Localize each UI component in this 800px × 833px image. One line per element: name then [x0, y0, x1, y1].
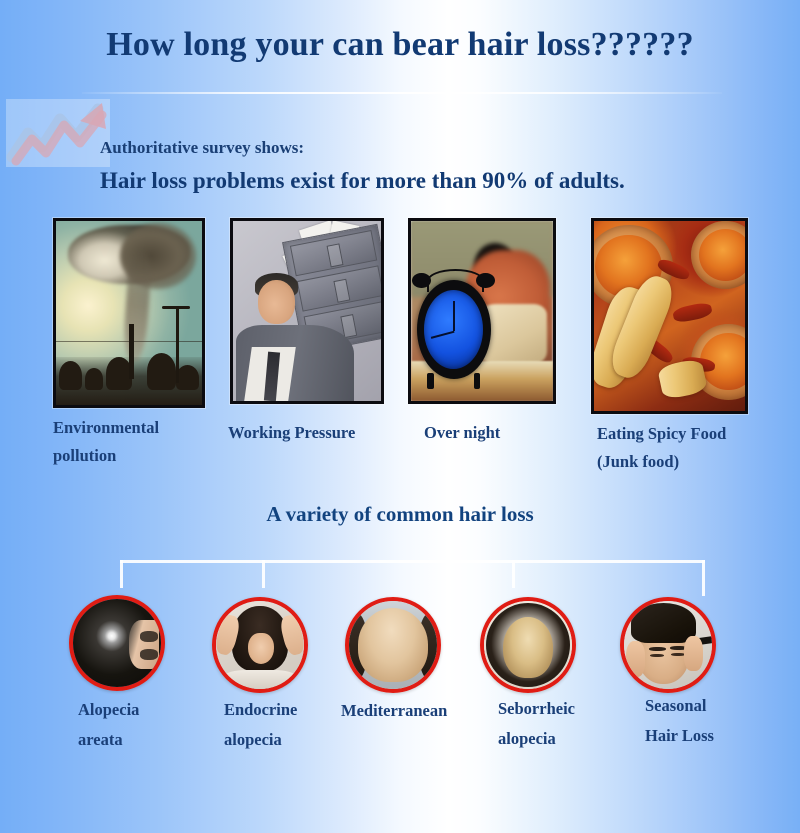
bracket-drop-4: [702, 560, 705, 596]
caption-line-2: alopecia: [498, 724, 575, 754]
cause-photo-environmental-pollution: [53, 218, 205, 408]
bracket-connector: [120, 560, 705, 602]
caption-line-2: pollution: [53, 442, 159, 470]
caption-line-1: Seborrheic: [498, 694, 575, 724]
caption-line-2: alopecia: [224, 725, 297, 755]
caption-line-1: Environmental: [53, 414, 159, 442]
cause-photo-working-pressure: [230, 218, 384, 404]
type-photo-seasonal-hair-loss: [620, 597, 716, 693]
caption-line-1: Eating Spicy Food: [597, 420, 726, 448]
title-divider: [82, 92, 722, 94]
cause-caption-working-pressure: Working Pressure: [228, 419, 355, 447]
caption-line-1: Over night: [424, 419, 500, 447]
type-photo-mediterranean: [345, 597, 441, 693]
cause-photo-eating-spicy-food: [591, 218, 748, 414]
section-title-common-hair-loss: A variety of common hair loss: [0, 502, 800, 527]
type-caption-seasonal-hair-loss: Seasonal Hair Loss: [645, 691, 714, 751]
infographic-poster: How long your can bear hair loss?????? A…: [0, 0, 800, 833]
bracket-drop-3: [512, 560, 515, 588]
survey-statistic-text: Hair loss problems exist for more than 9…: [100, 168, 625, 194]
type-photo-endocrine-alopecia: [212, 597, 308, 693]
caption-line-2: Hair Loss: [645, 721, 714, 751]
survey-lead-text: Authoritative survey shows:: [100, 138, 304, 158]
upward-trend-chart-icon: [6, 99, 110, 167]
cause-caption-eating-spicy-food: Eating Spicy Food (Junk food): [597, 420, 726, 476]
cause-caption-environmental-pollution: Environmental pollution: [53, 414, 159, 470]
cause-caption-over-night: Over night: [424, 419, 500, 447]
bracket-drop-1: [120, 560, 123, 588]
caption-line-1: Mediterranean: [341, 696, 447, 726]
caption-line-1: Working Pressure: [228, 419, 355, 447]
bracket-horizontal-bar: [120, 560, 705, 563]
type-photo-seborrheic-alopecia: [480, 597, 576, 693]
caption-line-2: areata: [78, 725, 139, 755]
type-caption-endocrine-alopecia: Endocrine alopecia: [224, 695, 297, 755]
caption-line-1: Alopecia: [78, 695, 139, 725]
bracket-drop-2: [262, 560, 265, 588]
cause-photo-over-night: [408, 218, 556, 404]
caption-line-1: Seasonal: [645, 691, 714, 721]
caption-line-2: (Junk food): [597, 448, 726, 476]
type-caption-mediterranean: Mediterranean: [341, 696, 447, 726]
type-caption-seborrheic-alopecia: Seborrheic alopecia: [498, 694, 575, 754]
page-title: How long your can bear hair loss??????: [0, 26, 800, 64]
type-photo-alopecia-areata: [69, 595, 165, 691]
caption-line-1: Endocrine: [224, 695, 297, 725]
type-caption-alopecia-areata: Alopecia areata: [78, 695, 139, 755]
